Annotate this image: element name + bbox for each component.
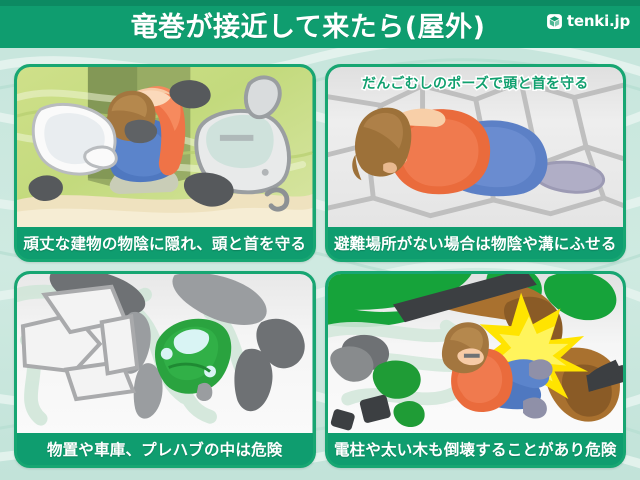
cube-logo-icon [546,13,563,30]
panel-lie-in-ditch[interactable]: だんごむしのポーズで頭と首を守る 避難場所がない場合は物陰や溝にふせる [325,64,627,262]
infographic-root: 竜巻が接近して来たら(屋外) tenki.jp [0,0,640,480]
panel-poles-trees-collapse[interactable]: 電柱や太い木も倒壊することがあり危険 [325,271,627,469]
brand-text: tenki.jp [567,12,630,30]
panel-2-illustration: だんごむしのポーズで頭と首を守る [328,67,624,227]
brand-logo[interactable]: tenki.jp [546,12,630,30]
panel-3-caption: 物置や車庫、プレハブの中は危険 [17,433,313,465]
panel-3-illustration [17,274,313,434]
panel-4-caption: 電柱や太い木も倒壊することがあり危険 [328,433,624,465]
panel-2-overlay-label: だんごむしのポーズで頭と首を守る [328,73,624,93]
panel-grid: 頑丈な建物の物陰に隠れ、頭と首を守る [14,64,626,468]
panel-1-illustration [17,67,313,227]
panel-shelter-behind-building[interactable]: 頑丈な建物の物陰に隠れ、頭と首を守る [14,64,316,262]
panel-sheds-garages-dangerous[interactable]: 物置や車庫、プレハブの中は危険 [14,271,316,469]
panel-4-illustration [328,274,624,434]
panel-2-caption: 避難場所がない場合は物陰や溝にふせる [328,227,624,259]
panel-1-caption: 頑丈な建物の物陰に隠れ、頭と首を守る [17,227,313,259]
header-bar: 竜巻が接近して来たら(屋外) [0,0,640,48]
page-title: 竜巻が接近して来たら(屋外) [0,0,640,48]
